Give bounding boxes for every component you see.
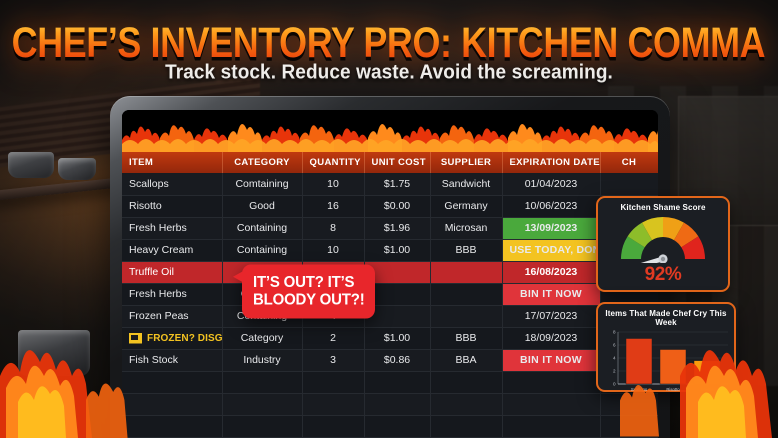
cell-empty — [222, 393, 302, 415]
cell-unit-cost: $1.00 — [364, 327, 430, 349]
cell-empty — [302, 415, 364, 437]
svg-text:Risotto: Risotto — [666, 387, 680, 392]
column-header-unit-cost[interactable]: UNIT COST — [364, 152, 430, 173]
column-header-chef-cut-off[interactable]: CH — [600, 152, 658, 173]
cell-expiration: 10/06/2023 — [502, 195, 600, 217]
cell-category: Containing — [222, 217, 302, 239]
cell-expiration: 17/07/2023 — [502, 305, 600, 327]
cell-empty — [222, 415, 302, 437]
table-row[interactable]: Fish Stock Industry 3 $0.86 BBA BIN IT N… — [122, 349, 658, 371]
cell-empty — [122, 371, 222, 393]
cell-quantity: 10 — [302, 173, 364, 195]
cell-empty — [502, 371, 600, 393]
svg-text:8: 8 — [613, 330, 616, 335]
svg-text:0: 0 — [613, 382, 616, 387]
cell-item: Heavy Cream — [122, 239, 222, 261]
svg-text:4: 4 — [613, 356, 616, 361]
status-badge-expiration: BIN IT NOW — [502, 283, 600, 305]
bar-chart: 0 2 4 6 8 Scallops Risotto Soufflé — [604, 328, 728, 398]
table-row[interactable]: Frozen Peas Containing 4 17/07/2023 — [122, 305, 658, 327]
table-header-row: ITEM CATEGORY QUANTITY UNIT COST SUPPLIE… — [122, 152, 658, 173]
poster-canvas: CHEF’S INVENTORY PRO: KITCHEN COMMAND! T… — [0, 0, 778, 438]
cell-supplier — [430, 305, 502, 327]
callout-bubble: IT’S OUT? IT’S BLOODY OUT?! — [242, 264, 375, 318]
cell-unit-cost: $1.00 — [364, 239, 430, 261]
cell-category: Category — [222, 327, 302, 349]
cell-category: Industry — [222, 349, 302, 371]
table-row[interactable]: Scallops Comtaining 10 $1.75 Sandwicht 0… — [122, 173, 658, 195]
bar-chart-title: Items That Made Chef Cry This Week — [604, 309, 728, 327]
tablet-screen: ITEM CATEGORY QUANTITY UNIT COST SUPPLIE… — [122, 110, 658, 438]
column-header-expiration-date[interactable]: EXPIRATION DATE — [502, 152, 600, 173]
svg-text:6: 6 — [613, 343, 616, 348]
cell-category: Comtaining — [222, 173, 302, 195]
status-badge-expiration: 16/08/2023 — [502, 261, 600, 283]
table-row[interactable]: Truffle Oil Quantity 0 16/08/2023 — [122, 261, 658, 283]
cell-supplier — [430, 283, 502, 305]
cell-empty — [364, 415, 430, 437]
cell-chef — [600, 173, 658, 195]
cell-expiration: 01/04/2023 — [502, 173, 600, 195]
svg-text:Scallops: Scallops — [631, 387, 647, 392]
cell-item: Fish Stock — [122, 349, 222, 371]
cell-supplier — [430, 261, 502, 283]
cell-item: Fresh Herbs — [122, 217, 222, 239]
column-header-quantity[interactable]: QUANTITY — [302, 152, 364, 173]
table-body: Scallops Comtaining 10 $1.75 Sandwicht 0… — [122, 173, 658, 437]
flag-icon — [129, 333, 142, 344]
cell-empty — [222, 371, 302, 393]
cell-empty — [302, 371, 364, 393]
cell-item-label: FROZEN? DISGUSTING. — [147, 333, 222, 344]
cell-empty — [430, 415, 502, 437]
cell-item: Frozen Peas — [122, 305, 222, 327]
callout-line-1: IT’S OUT? IT’S — [253, 274, 365, 291]
cell-empty — [122, 415, 222, 437]
cell-item-flagged: FROZEN? DISGUSTING. — [122, 327, 222, 349]
table-row[interactable]: Risotto Good 16 $0.00 Germany 10/06/2023 — [122, 195, 658, 217]
cell-empty — [364, 393, 430, 415]
page-title: CHEF’S INVENTORY PRO: KITCHEN COMMAND! — [12, 20, 767, 66]
cell-quantity: 8 — [302, 217, 364, 239]
tablet-device: ITEM CATEGORY QUANTITY UNIT COST SUPPLIE… — [110, 96, 670, 438]
cell-item: Scallops — [122, 173, 222, 195]
table-row-empty — [122, 415, 658, 437]
table-row[interactable]: FROZEN? DISGUSTING. Category 2 $1.00 BBB… — [122, 327, 658, 349]
cell-empty — [302, 393, 364, 415]
flame-banner — [122, 110, 658, 152]
cell-supplier: BBA — [430, 349, 502, 371]
cell-item: Fresh Herbs — [122, 283, 222, 305]
gauge-chart — [604, 213, 722, 265]
cell-supplier: BBB — [430, 327, 502, 349]
cell-unit-cost: $0.00 — [364, 195, 430, 217]
callout-line-2: BLOODY OUT?! — [253, 291, 365, 308]
page-subtitle: Track stock. Reduce waste. Avoid the scr… — [0, 61, 778, 84]
cell-empty — [430, 371, 502, 393]
cell-supplier: BBB — [430, 239, 502, 261]
cell-quantity: 2 — [302, 327, 364, 349]
cell-unit-cost: $1.96 — [364, 217, 430, 239]
cell-quantity: 3 — [302, 349, 364, 371]
cell-expiration: 18/09/2023 — [502, 327, 600, 349]
table-row[interactable]: Heavy Cream Containing 10 $1.00 BBB USE … — [122, 239, 658, 261]
cell-supplier: Germany — [430, 195, 502, 217]
column-header-supplier[interactable]: SUPPLIER — [430, 152, 502, 173]
cell-unit-cost: $1.75 — [364, 173, 430, 195]
cell-empty — [502, 393, 600, 415]
status-badge-expiration: USE TODAY, DONKEY! — [502, 239, 600, 261]
cell-empty — [122, 393, 222, 415]
cell-item: Truffle Oil — [122, 261, 222, 283]
status-badge-expiration: BIN IT NOW — [502, 349, 600, 371]
chef-cry-items-card: Items That Made Chef Cry This Week 0 2 — [596, 302, 736, 392]
cell-quantity: 16 — [302, 195, 364, 217]
cell-category: Good — [222, 195, 302, 217]
cell-supplier: Sandwicht — [430, 173, 502, 195]
gauge-value: 92% — [604, 265, 722, 284]
inventory-table[interactable]: ITEM CATEGORY QUANTITY UNIT COST SUPPLIE… — [122, 152, 658, 438]
svg-text:Soufflé: Soufflé — [700, 387, 714, 392]
svg-text:2: 2 — [613, 369, 616, 374]
cell-empty — [430, 393, 502, 415]
cell-empty — [600, 415, 658, 437]
column-header-item[interactable]: ITEM — [122, 152, 222, 173]
cell-item: Risotto — [122, 195, 222, 217]
cell-empty — [364, 371, 430, 393]
table-row[interactable]: Fresh Herbs Containing 8 $1.96 Microsan … — [122, 217, 658, 239]
cell-quantity: 10 — [302, 239, 364, 261]
status-badge-expiration: 13/09/2023 — [502, 217, 600, 239]
cell-category: Containing — [222, 239, 302, 261]
cell-supplier: Microsan — [430, 217, 502, 239]
cell-empty — [502, 415, 600, 437]
table-row[interactable]: Fresh Herbs Category 10 BIN IT NOW — [122, 283, 658, 305]
kitchen-shame-score-card: Kitchen Shame Score 92% — [596, 196, 730, 292]
column-header-category[interactable]: CATEGORY — [222, 152, 302, 173]
gauge-title: Kitchen Shame Score — [604, 203, 722, 212]
table-row-empty — [122, 393, 658, 415]
cell-unit-cost: $0.86 — [364, 349, 430, 371]
table-row-empty — [122, 371, 658, 393]
